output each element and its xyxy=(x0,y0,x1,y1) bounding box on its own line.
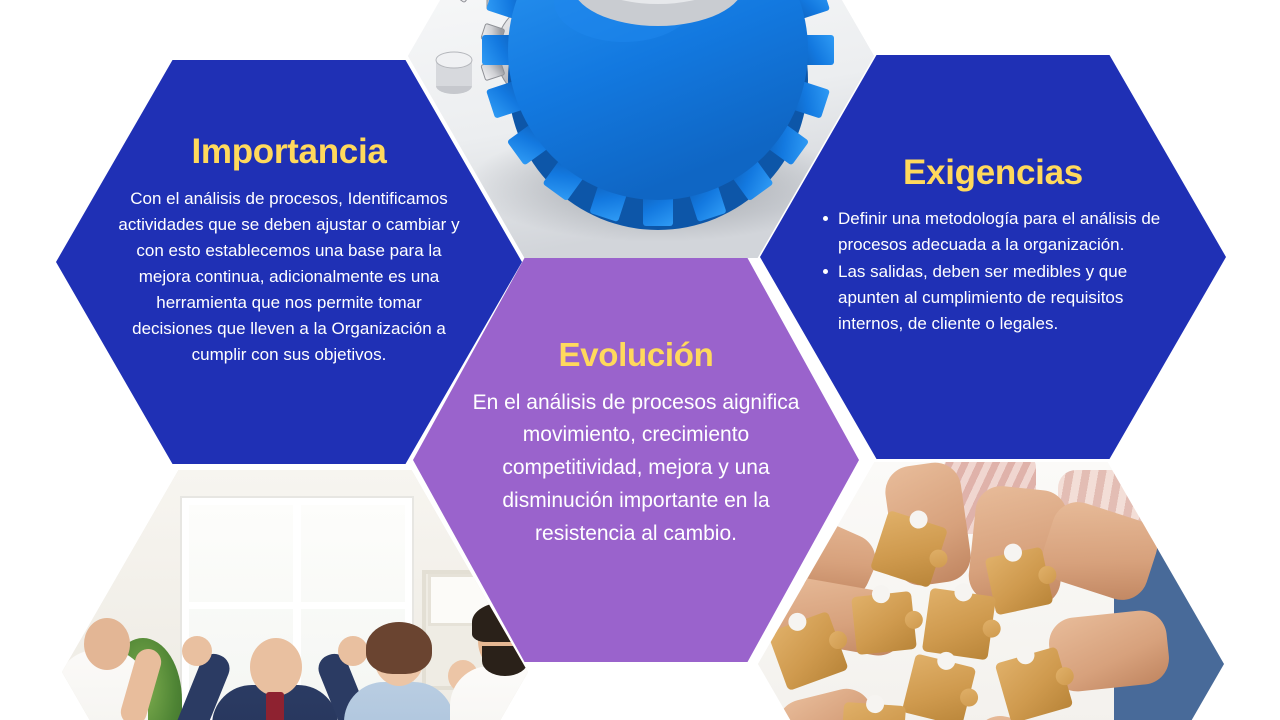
importancia-body: Con el análisis de procesos, Identificam… xyxy=(118,186,460,368)
puzzle-piece xyxy=(851,591,917,655)
person-head xyxy=(84,618,130,670)
necktie xyxy=(266,692,284,720)
person-hair xyxy=(366,622,432,674)
evolucion-title: Evolución xyxy=(559,338,714,373)
puzzle-piece xyxy=(902,653,977,720)
person-fist xyxy=(338,636,368,666)
exigencias-title: Exigencias xyxy=(903,155,1083,192)
importancia-title: Importancia xyxy=(191,134,386,171)
evolucion-body: En el análisis de procesos aignifica mov… xyxy=(461,387,811,551)
person-fist xyxy=(182,636,212,666)
puzzle-piece xyxy=(922,588,996,661)
puzzle-piece xyxy=(840,702,906,720)
infographic-canvas: Importancia Con el análisis de procesos,… xyxy=(0,0,1280,720)
list-item: Definir una metodología para el análisis… xyxy=(820,206,1166,258)
list-item: Las salidas, deben ser medibles y que ap… xyxy=(820,259,1166,336)
exigencias-body: Definir una metodología para el análisis… xyxy=(820,206,1166,339)
person-head xyxy=(250,638,302,696)
exigencias-bullet-list: Definir una metodología para el análisis… xyxy=(820,206,1166,337)
grey-pin xyxy=(436,52,472,94)
